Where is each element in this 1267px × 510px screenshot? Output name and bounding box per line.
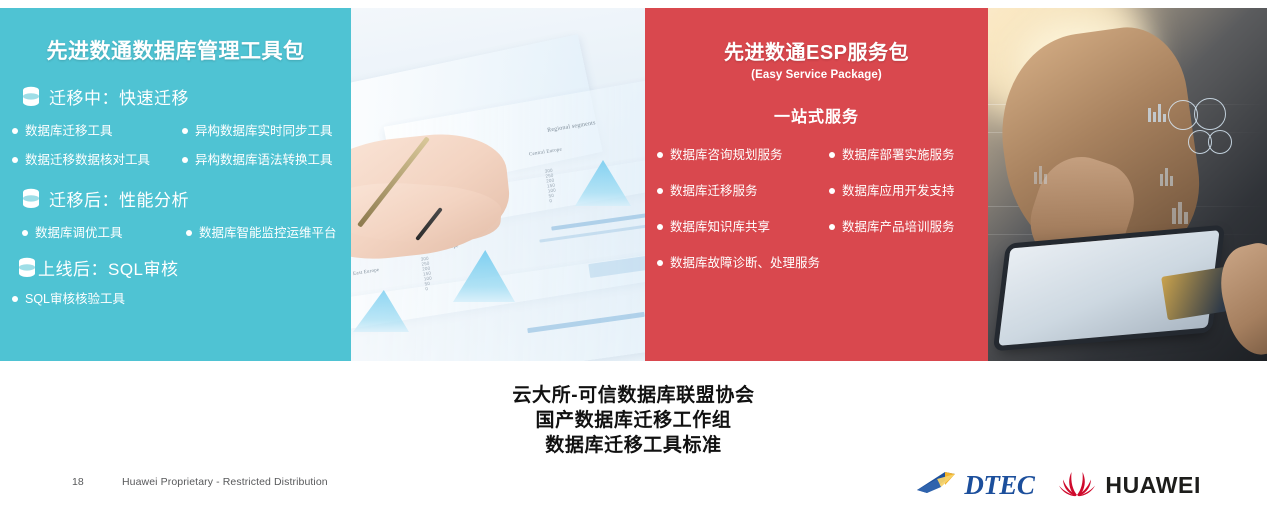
bullet-dot-icon (186, 230, 192, 236)
section-heading-sql-review: 上线后：SQL审核 (18, 255, 351, 280)
hand-writing-on-charts-photo: Regional segments Central Europe West Eu… (351, 8, 645, 361)
bullet-dot-icon (182, 128, 188, 134)
bullet-dot-icon (657, 188, 663, 194)
caption-line-1: 云大所-可信数据库联盟协会 (0, 383, 1267, 408)
section-heading-label: 迁移中：快速迁移 (49, 84, 189, 109)
huawei-flower-icon (1058, 469, 1096, 502)
list-item: 数据库产品培训服务 (829, 219, 988, 235)
bullet-dot-icon (829, 152, 835, 158)
list-item: 数据迁移数据核对工具 (12, 152, 182, 168)
bullet-dot-icon (182, 157, 188, 163)
right-esp-panel: 先进数通ESP服务包 (Easy Service Package) 一站式服务 … (645, 8, 988, 361)
list-item-label: SQL审核核验工具 (25, 291, 125, 307)
red-panel-section-heading: 一站式服务 (645, 103, 988, 127)
list-item-label: 数据库知识库共享 (670, 219, 770, 235)
bullet-dot-icon (657, 152, 663, 158)
list-item-label: 数据库应用开发支持 (842, 183, 955, 199)
list-item-label: 数据库迁移工具 (25, 123, 113, 139)
list-item: 数据库应用开发支持 (829, 183, 988, 199)
section-heading-label: 迁移后：性能分析 (49, 186, 189, 211)
confidentiality-notice: Huawei Proprietary - Restricted Distribu… (122, 476, 328, 488)
finger-touching-tablet-photo (988, 8, 1267, 361)
list-item: 数据库迁移服务 (657, 183, 829, 199)
page-number: 18 (72, 476, 84, 488)
bullet-dot-icon (12, 128, 18, 134)
migration-tools-list: 数据库迁移工具 异构数据库实时同步工具 数据迁移数据核对工具 异构数据库语法转换… (12, 123, 351, 168)
list-item: 数据库调优工具 (22, 225, 186, 241)
bullet-dot-icon (22, 230, 28, 236)
list-item-label: 数据库迁移服务 (670, 183, 758, 199)
huawei-logo: HUAWEI (1058, 469, 1201, 502)
list-item: 数据库咨询规划服务 (657, 147, 829, 163)
bullet-dot-icon (657, 260, 663, 266)
list-item-label: 异构数据库语法转换工具 (195, 152, 333, 168)
list-item-label: 异构数据库实时同步工具 (195, 123, 333, 139)
huawei-wordmark: HUAWEI (1105, 472, 1201, 499)
list-item-label: 数据库调优工具 (35, 225, 123, 241)
list-item-label: 数据迁移数据核对工具 (25, 152, 150, 168)
esp-services-list: 数据库咨询规划服务 数据库部署实施服务 数据库迁移服务 数据库应用开发支持 数据… (657, 147, 988, 235)
dtec-wordmark: DTEC (964, 470, 1034, 501)
database-icon (22, 86, 40, 107)
section-heading-label: 上线后：SQL审核 (38, 255, 179, 280)
list-item-label: 数据库智能监控运维平台 (199, 225, 337, 241)
bullet-dot-icon (12, 157, 18, 163)
database-icon (18, 257, 36, 278)
list-item: SQL审核核验工具 (12, 291, 351, 307)
slide-caption: 云大所-可信数据库联盟协会 国产数据库迁移工作组 数据库迁移工具标准 (0, 383, 1267, 458)
dtec-logo: DTEC (915, 468, 1034, 503)
slide-content-band: 先进数通数据库管理工具包 迁移中：快速迁移 数据库迁移工具 异构数据库实时同步工… (0, 8, 1267, 361)
bullet-dot-icon (829, 224, 835, 230)
list-item: 数据库迁移工具 (12, 123, 182, 139)
list-item-label: 数据库咨询规划服务 (670, 147, 783, 163)
bullet-dot-icon (657, 224, 663, 230)
bullet-dot-icon (12, 296, 18, 302)
list-item: 异构数据库实时同步工具 (182, 123, 347, 139)
database-icon (22, 188, 40, 209)
dtec-swoosh-icon (915, 468, 971, 503)
left-panel-title: 先进数通数据库管理工具包 (0, 38, 351, 66)
caption-line-3: 数据库迁移工具标准 (0, 433, 1267, 458)
performance-tools-list: 数据库调优工具 数据库智能监控运维平台 (22, 225, 351, 241)
list-item: 数据库智能监控运维平台 (186, 225, 347, 241)
caption-line-2: 国产数据库迁移工作组 (0, 408, 1267, 433)
footer-logos: DTEC HUAWEI (915, 468, 1201, 503)
list-item: 数据库部署实施服务 (829, 147, 988, 163)
slide-footer: 18 Huawei Proprietary - Restricted Distr… (0, 464, 1267, 510)
list-item: 数据库故障诊断、处理服务 (657, 255, 988, 271)
section-heading-post-migration: 迁移后：性能分析 (22, 186, 351, 211)
bullet-dot-icon (829, 188, 835, 194)
list-item: 异构数据库语法转换工具 (182, 152, 347, 168)
list-item-label: 数据库故障诊断、处理服务 (670, 255, 820, 271)
red-panel-subtitle: (Easy Service Package) (645, 69, 988, 81)
section-heading-migration: 迁移中：快速迁移 (22, 84, 351, 109)
red-panel-title: 先进数通ESP服务包 (645, 40, 988, 67)
list-item-label: 数据库部署实施服务 (842, 147, 955, 163)
left-toolkit-panel: 先进数通数据库管理工具包 迁移中：快速迁移 数据库迁移工具 异构数据库实时同步工… (0, 8, 351, 361)
list-item-label: 数据库产品培训服务 (842, 219, 955, 235)
list-item: 数据库知识库共享 (657, 219, 829, 235)
